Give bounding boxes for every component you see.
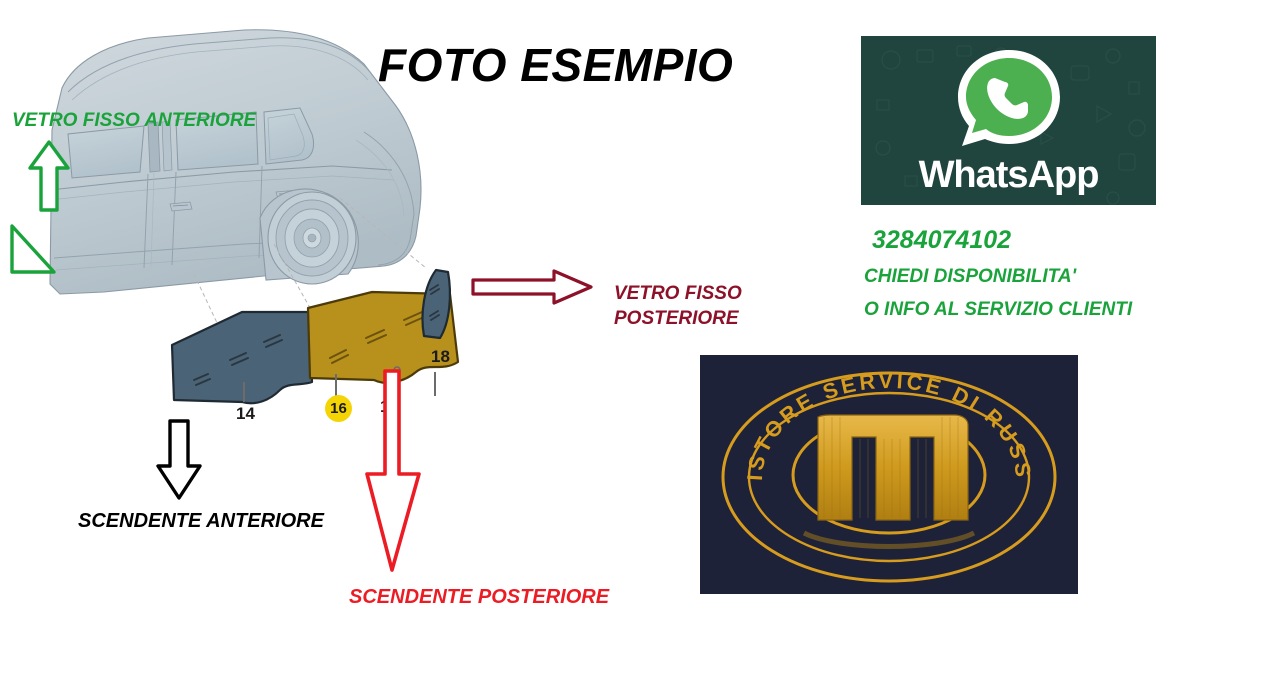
part-number-16-badge: 16 [325,395,352,422]
whatsapp-wordmark: WhatsApp [861,154,1156,197]
page-title: FOTO ESEMPIO [378,38,733,92]
part-number-14: 14 [236,404,255,424]
label-vetro-fisso-posteriore-line1: VETRO FISSO [614,281,742,306]
whatsapp-logo-icon [950,44,1068,156]
whatsapp-banner: WhatsApp [861,36,1156,205]
whatsapp-cta-line-1: CHIEDI DISPONIBILITA' [864,266,1076,288]
label-vetro-fisso-posteriore: VETRO FISSO POSTERIORE [614,281,742,332]
poster-canvas: 14 17 18 16 FOTO ESEMPIO VETRO FISSO ANT… [0,0,1264,678]
label-scendente-anteriore: SCENDENTE ANTERIORE [78,510,324,533]
shop-logo-graphic: MRICAMBISTORE SERVICE DI RUSSO MARCO [700,355,1078,594]
shop-logo-banner: MRICAMBISTORE SERVICE DI RUSSO MARCO [700,355,1078,594]
whatsapp-cta-line-2: O INFO AL SERVIZIO CLIENTI [864,299,1132,321]
up-arrow-green-icon [28,138,72,214]
label-scendente-posteriore: SCENDENTE POSTERIORE [349,586,609,609]
down-arrow-black-icon [155,418,203,502]
whatsapp-phone-number[interactable]: 3284074102 [872,226,1011,255]
down-arrow-red-icon [362,368,424,576]
label-vetro-fisso-posteriore-line2: POSTERIORE [614,306,742,331]
right-arrow-darkred-icon [470,268,594,306]
part-18-glass [414,268,460,342]
label-vetro-fisso-anteriore: VETRO FISSO ANTERIORE [12,110,256,132]
part-number-18: 18 [431,347,450,367]
triangle-green-icon [8,222,58,278]
